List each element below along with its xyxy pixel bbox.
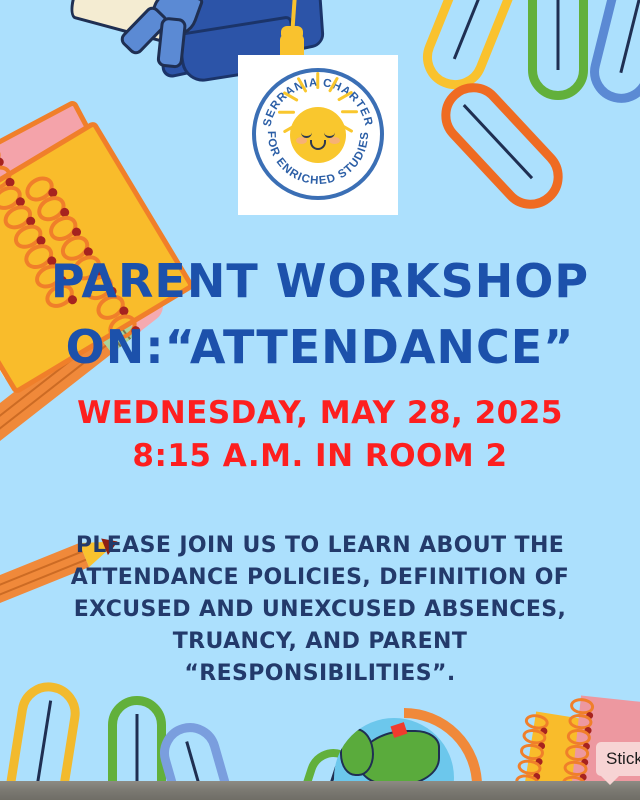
event-description: PLEASE JOIN US TO LEARN ABOUT THE ATTEND…: [0, 530, 640, 690]
table-surface: [0, 781, 640, 800]
page-title-line1: PARENT WORKSHOP: [0, 252, 640, 310]
paper-clip-icon-blue: [584, 0, 640, 109]
paper-clip-icon-orange: [428, 70, 576, 222]
school-logo: SERRANIA CHARTER FOR ENRICHED STUDIES: [238, 55, 398, 215]
description-line: ATTENDANCE POLICIES, DEFINITION OF: [60, 562, 580, 594]
flyer-canvas: Stick SERRANIA CHARTER FOR ENRICHED STUD…: [0, 0, 640, 800]
description-line: EXCUSED AND UNEXCUSED ABSENCES,: [60, 594, 580, 626]
sun-ray: [341, 111, 358, 114]
sticky-note-label: Stick: [596, 742, 640, 776]
event-date: WEDNESDAY, MAY 28, 2025: [0, 394, 640, 432]
description-line: PLEASE JOIN US TO LEARN ABOUT THE: [60, 530, 580, 562]
globe-knob: [390, 722, 407, 738]
event-time-location: 8:15 A.M. IN ROOM 2: [0, 437, 640, 475]
spiral-binding-pink-bottom: [561, 697, 595, 793]
paper-clip-icon-green: [528, 0, 588, 100]
sun-ray: [278, 111, 295, 114]
smiling-sun-icon: [290, 107, 346, 163]
description-line: “RESPONSIBILITIES”.: [60, 658, 580, 690]
diploma-scroll-icon: [67, 0, 259, 65]
sun-ray: [317, 72, 320, 89]
page-title-line2: ON:“ATTENDANCE”: [0, 318, 640, 376]
spiral-binding-yellow-bottom: [514, 713, 550, 792]
paper-clip-icon-yellow: [413, 0, 526, 99]
description-line: TRUANCY, AND PARENT: [60, 626, 580, 658]
tassel-string: [290, 0, 299, 42]
ribbon-icon: [146, 0, 205, 42]
